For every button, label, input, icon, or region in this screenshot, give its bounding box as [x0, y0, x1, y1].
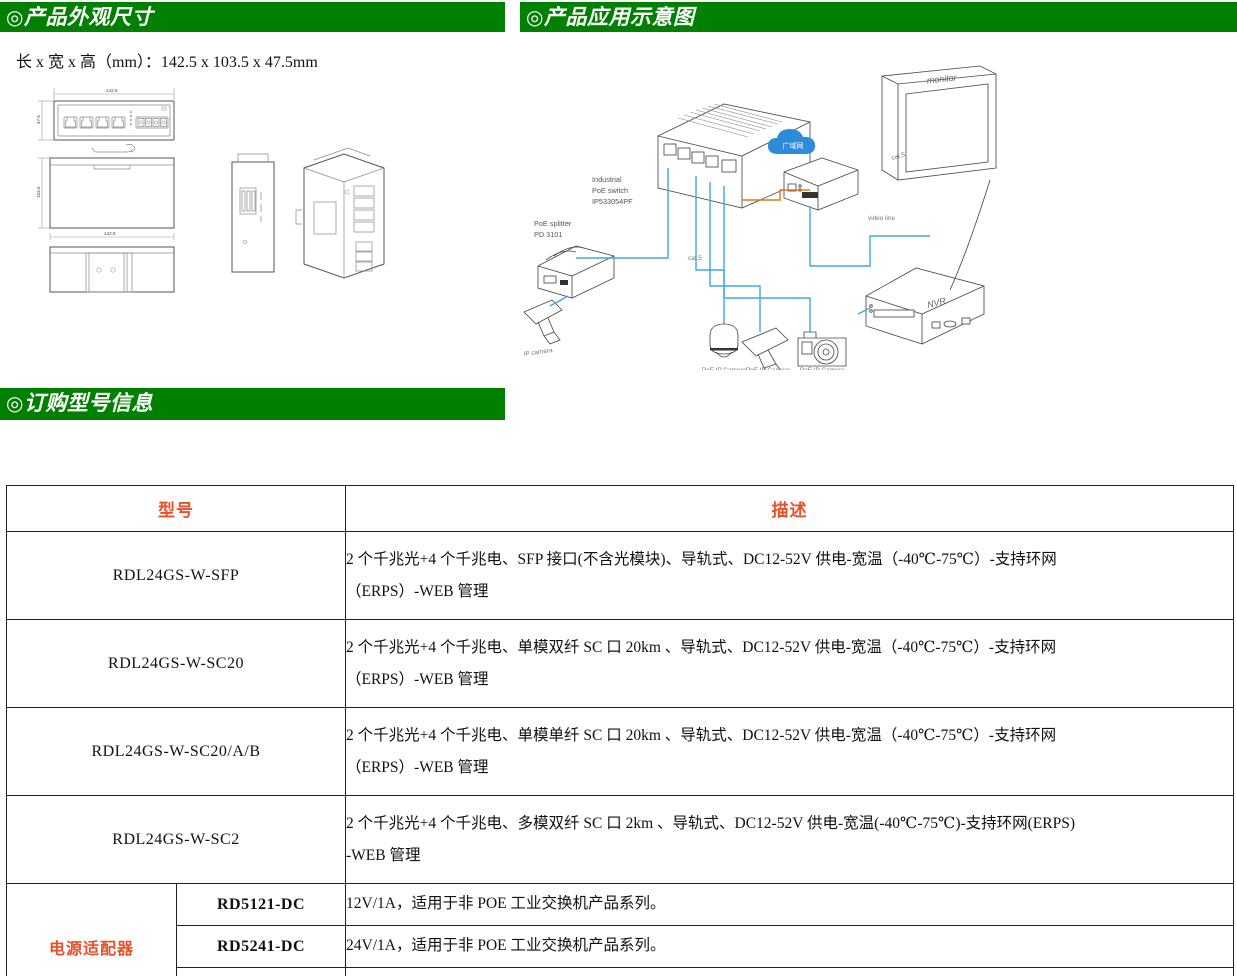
table-row-adapter: 电源适配器 RD5121-DC 12V/1A，适用于非 POE 工业交换机产品系… — [7, 884, 1234, 926]
row-model-name: RDL24GS-W-SC20 — [7, 620, 346, 708]
adapter-description: 52V/1A，适用于 1 端口内 POE 供电和非 POE 工业交换机产品系列 — [346, 968, 1234, 976]
adapter-description: 12V/1A，适用于非 POE 工业交换机产品系列。 — [346, 884, 1234, 926]
table-header-description: 描述 — [346, 486, 1234, 532]
row-model-name: RDL24GS-W-SC2 — [7, 796, 346, 884]
cable-splitter-to-switch — [576, 168, 668, 258]
switch-label-line3: IP533054PF — [592, 197, 633, 206]
page-root: ◎产品外观尺寸 ◎产品应用示意图 长 x 宽 x 高（mm）：142.5 x 1… — [0, 0, 1237, 976]
row-model-name: RDL24GS-W-SC20/A/B — [7, 708, 346, 796]
cloud-label: 广域网 — [783, 141, 804, 150]
poe-ip-camera-dslr: PoE IP Camera — [798, 332, 846, 370]
monitor-device: monitor — [882, 66, 996, 180]
table-row: RDL24GS-W-SC2 2 个千兆光+4 个千兆电、多模双纤 SC 口 2k… — [7, 796, 1234, 884]
nvr-device: NVR — [866, 268, 984, 344]
row-description-line1: 2 个千兆光+4 个千兆电、多模双纤 SC 口 2km 、导轨式、DC12-52… — [346, 808, 1233, 840]
row-description-line2: -WEB 管理 — [346, 840, 1233, 872]
cable-label-cat5-mid: cat.5 — [688, 255, 702, 262]
table-header-model: 型号 — [7, 486, 346, 532]
cable-switch-cam3 — [724, 186, 810, 332]
side-view — [232, 154, 274, 272]
led-indicators — [130, 111, 132, 125]
isometric-view — [296, 148, 384, 278]
dim-label-length-bottom: 142.5 — [104, 231, 116, 236]
adapter-model-name: RD5121-DC — [177, 884, 346, 926]
table-row: RDL24GS-W-SC20 2 个千兆光+4 个千兆电、单模双纤 SC 口 2… — [7, 620, 1234, 708]
dim-label-height: 47.5 — [36, 115, 41, 124]
cable-label-video-line: video line — [868, 215, 895, 222]
adapter-model-name: RD5241-DC — [177, 926, 346, 968]
ip-camera-device: IP camera — [523, 300, 562, 358]
terminal-block — [136, 117, 168, 128]
row-description: 2 个千兆光+4 个千兆电、SFP 接口(不含光模块)、导轨式、DC12-52V… — [346, 532, 1234, 620]
banner-ring-icon: ◎ — [6, 7, 24, 29]
row-description-line2: （ERPS）-WEB 管理 — [346, 664, 1233, 696]
top-view: 103.5 142.5 — [36, 144, 174, 240]
table-row-adapter: RD5241-DC 24V/1A，适用于非 POE 工业交换机产品系列。 — [7, 926, 1234, 968]
table-row: RDL24GS-W-SC20/A/B 2 个千兆光+4 个千兆电、单模单纤 SC… — [7, 708, 1234, 796]
splitter-label-line2: PD 3101 — [534, 230, 562, 239]
ip-camera-label: IP camera — [523, 347, 553, 358]
table-row: RDL24GS-W-SFP 2 个千兆光+4 个千兆电、SFP 接口(不含光模块… — [7, 532, 1234, 620]
product-dimension-drawing: 142.5 47.5 — [14, 82, 414, 332]
banner-title-ordering: 订购型号信息 — [24, 391, 153, 415]
cable-nvr-to-monitor — [950, 180, 990, 290]
application-topology-diagram: Industrial PoE switch IP533054PF PoE spl… — [510, 60, 1030, 370]
splitter-label-line1: PoE splitter — [534, 219, 572, 228]
rj45-ports — [64, 117, 125, 128]
poe-splitter-device — [538, 246, 614, 298]
row-model-name: RDL24GS-W-SFP — [7, 532, 346, 620]
switch-label-line1: Industrial — [592, 175, 622, 184]
adapter-description: 24V/1A，适用于非 POE 工业交换机产品系列。 — [346, 926, 1234, 968]
dim-label-depth: 103.5 — [36, 186, 41, 198]
front-view: 142.5 47.5 — [36, 88, 174, 140]
adapter-model-name: RD5521-DC — [177, 968, 346, 976]
row-description-line2: （ERPS）-WEB 管理 — [346, 576, 1233, 608]
row-description: 2 个千兆光+4 个千兆电、单模单纤 SC 口 20km 、导轨式、DC12-5… — [346, 708, 1234, 796]
row-description-line2: （ERPS）-WEB 管理 — [346, 752, 1233, 784]
row-description-line1: 2 个千兆光+4 个千兆电、单模单纤 SC 口 20km 、导轨式、DC12-5… — [346, 720, 1233, 752]
label-poe-splitter: PoE splitter PD 3101 — [534, 219, 572, 239]
poe-ip-camera-dome: PoE IP Camera — [702, 324, 747, 370]
row-description: 2 个千兆光+4 个千兆电、多模双纤 SC 口 2km 、导轨式、DC12-52… — [346, 796, 1234, 884]
banner-title-application: 产品应用示意图 — [544, 5, 695, 29]
dimension-caption: 长 x 宽 x 高（mm）：142.5 x 103.5 x 47.5mm — [16, 48, 318, 72]
table-header-row: 型号 描述 — [7, 486, 1234, 532]
banner-ring-icon: ◎ — [6, 393, 24, 415]
row-description-line1: 2 个千兆光+4 个千兆电、单模双纤 SC 口 20km 、导轨式、DC12-5… — [346, 632, 1233, 664]
adapter-group-label: 电源适配器 — [7, 884, 177, 976]
banner-title-dimensions: 产品外观尺寸 — [24, 5, 153, 29]
section-banner-application: ◎产品应用示意图 — [520, 2, 1237, 32]
poe-camera-label-3: PoE IP Camera — [800, 367, 845, 370]
section-banner-dimensions: ◎产品外观尺寸 — [0, 2, 505, 32]
ordering-model-table: 型号 描述 RDL24GS-W-SFP 2 个千兆光+4 个千兆电、SFP 接口… — [6, 485, 1234, 976]
banner-ring-icon: ◎ — [526, 7, 544, 29]
section-banner-ordering: ◎订购型号信息 — [0, 388, 505, 420]
label-industrial-switch: Industrial PoE switch IP533054PF — [592, 175, 633, 206]
row-description-line1: 2 个千兆光+4 个千兆电、SFP 接口(不含光模块)、导轨式、DC12-52V… — [346, 544, 1233, 576]
row-description: 2 个千兆光+4 个千兆电、单模双纤 SC 口 20km 、导轨式、DC12-5… — [346, 620, 1234, 708]
bottom-view — [50, 247, 174, 292]
poe-camera-label-1: PoE IP Camera — [702, 367, 747, 370]
poe-ip-camera-bullet: PoE IP Camera — [742, 328, 791, 370]
table-row-adapter: RD5521-DC 52V/1A，适用于 1 端口内 POE 供电和非 POE … — [7, 968, 1234, 976]
dim-label-length-top: 142.5 — [106, 88, 118, 93]
switch-label-line2: PoE switch — [592, 186, 628, 195]
poe-camera-label-2: PoE IP Camera — [746, 367, 791, 370]
